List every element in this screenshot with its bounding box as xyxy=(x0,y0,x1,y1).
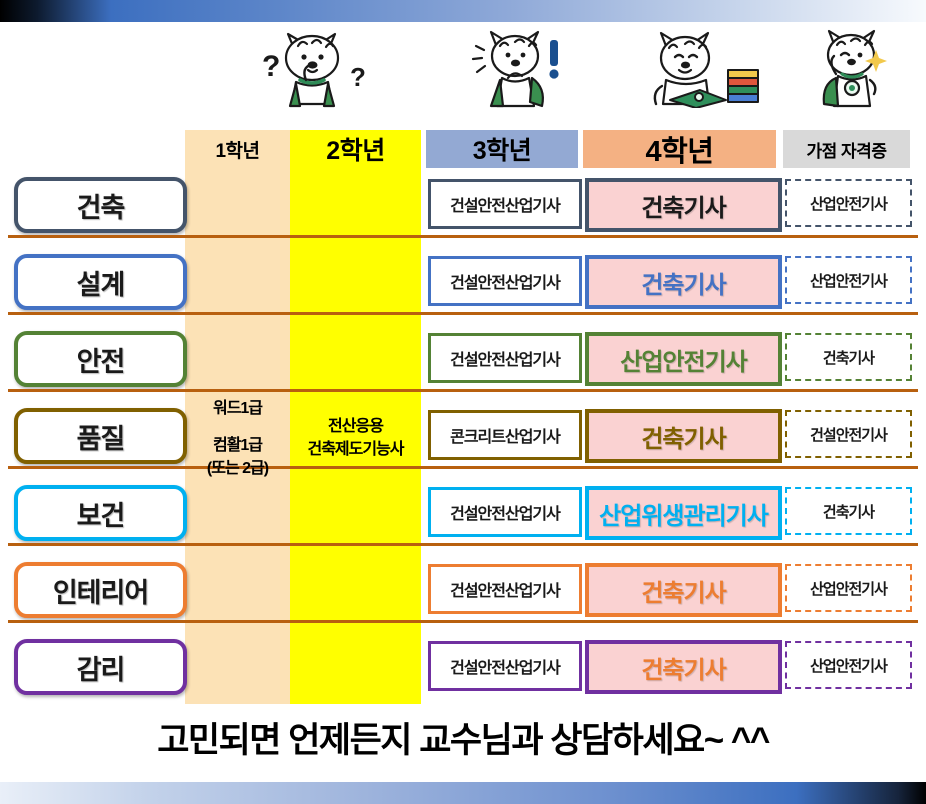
row-separator xyxy=(8,620,918,623)
tiger-excited-icon xyxy=(466,24,586,108)
bonus-cert-0[interactable]: 산업안전기사 xyxy=(785,179,912,227)
top-decorative-bar xyxy=(0,0,926,22)
roadmap-row: 감리건설안전산업기사건축기사산업안전기사 xyxy=(0,636,926,710)
year4-cert-6[interactable]: 건축기사 xyxy=(585,640,782,694)
tiger-graduate-icon xyxy=(800,24,910,108)
track-label-4[interactable]: 보건 xyxy=(14,485,187,541)
year3-cert-2[interactable]: 건설안전산업기사 xyxy=(428,333,582,383)
track-label-1[interactable]: 설계 xyxy=(14,254,187,310)
tiger-studying-icon xyxy=(636,24,771,108)
row-separator xyxy=(8,235,918,238)
row-separator xyxy=(8,312,918,315)
year2-merged-cell: 전산응용 건축제도기능사 xyxy=(290,415,421,461)
svg-text:?: ? xyxy=(262,50,280,83)
mascot-row: ? ? xyxy=(0,22,926,108)
footer-caption: 고민되면 언제든지 교수님과 상담하세요~ ^^ xyxy=(0,712,926,763)
bottom-decorative-bar xyxy=(0,782,926,804)
year1-merged-cell: 워드1급 컴활1급 (또는 2급) xyxy=(185,397,290,481)
track-label-0[interactable]: 건축 xyxy=(14,177,187,233)
year2-line1: 전산응용 xyxy=(290,415,421,438)
header-year3: 3학년 xyxy=(426,130,578,168)
year3-cert-5[interactable]: 건설안전산업기사 xyxy=(428,564,582,614)
year3-cert-4[interactable]: 건설안전산업기사 xyxy=(428,487,582,537)
header-year4: 4학년 xyxy=(583,130,776,168)
track-label-3[interactable]: 품질 xyxy=(14,408,187,464)
year4-cert-3[interactable]: 건축기사 xyxy=(585,409,782,463)
bonus-cert-5[interactable]: 산업안전기사 xyxy=(785,564,912,612)
header-year1: 1학년 xyxy=(185,130,290,168)
certification-roadmap: ? ? xyxy=(0,22,926,782)
year3-cert-1[interactable]: 건설안전산업기사 xyxy=(428,256,582,306)
track-label-5[interactable]: 인테리어 xyxy=(14,562,187,618)
year3-cert-6[interactable]: 건설안전산업기사 xyxy=(428,641,582,691)
year1-line1: 워드1급 xyxy=(185,397,290,420)
row-separator xyxy=(8,466,918,469)
tiger-thinking-icon: ? ? xyxy=(238,24,388,108)
track-label-6[interactable]: 감리 xyxy=(14,639,187,695)
track-label-2[interactable]: 안전 xyxy=(14,331,187,387)
header-bonus-certification: 가점 자격증 xyxy=(783,130,910,168)
year1-line3: (또는 2급) xyxy=(185,457,290,480)
header-year2: 2학년 xyxy=(290,130,421,168)
year3-cert-0[interactable]: 건설안전산업기사 xyxy=(428,179,582,229)
bonus-cert-4[interactable]: 건축기사 xyxy=(785,487,912,535)
year4-cert-2[interactable]: 산업안전기사 xyxy=(585,332,782,386)
year4-cert-1[interactable]: 건축기사 xyxy=(585,255,782,309)
svg-text:?: ? xyxy=(350,62,366,92)
bonus-cert-2[interactable]: 건축기사 xyxy=(785,333,912,381)
bonus-cert-3[interactable]: 건설안전기사 xyxy=(785,410,912,458)
year3-cert-3[interactable]: 콘크리트산업기사 xyxy=(428,410,582,460)
bonus-cert-1[interactable]: 산업안전기사 xyxy=(785,256,912,304)
year4-cert-0[interactable]: 건축기사 xyxy=(585,178,782,232)
bonus-cert-6[interactable]: 산업안전기사 xyxy=(785,641,912,689)
row-separator xyxy=(8,543,918,546)
year1-line2: 컴활1급 xyxy=(185,434,290,457)
row-separator xyxy=(8,389,918,392)
year4-cert-4[interactable]: 산업위생관리기사 xyxy=(585,486,782,540)
year2-line2: 건축제도기능사 xyxy=(290,438,421,461)
year4-cert-5[interactable]: 건축기사 xyxy=(585,563,782,617)
